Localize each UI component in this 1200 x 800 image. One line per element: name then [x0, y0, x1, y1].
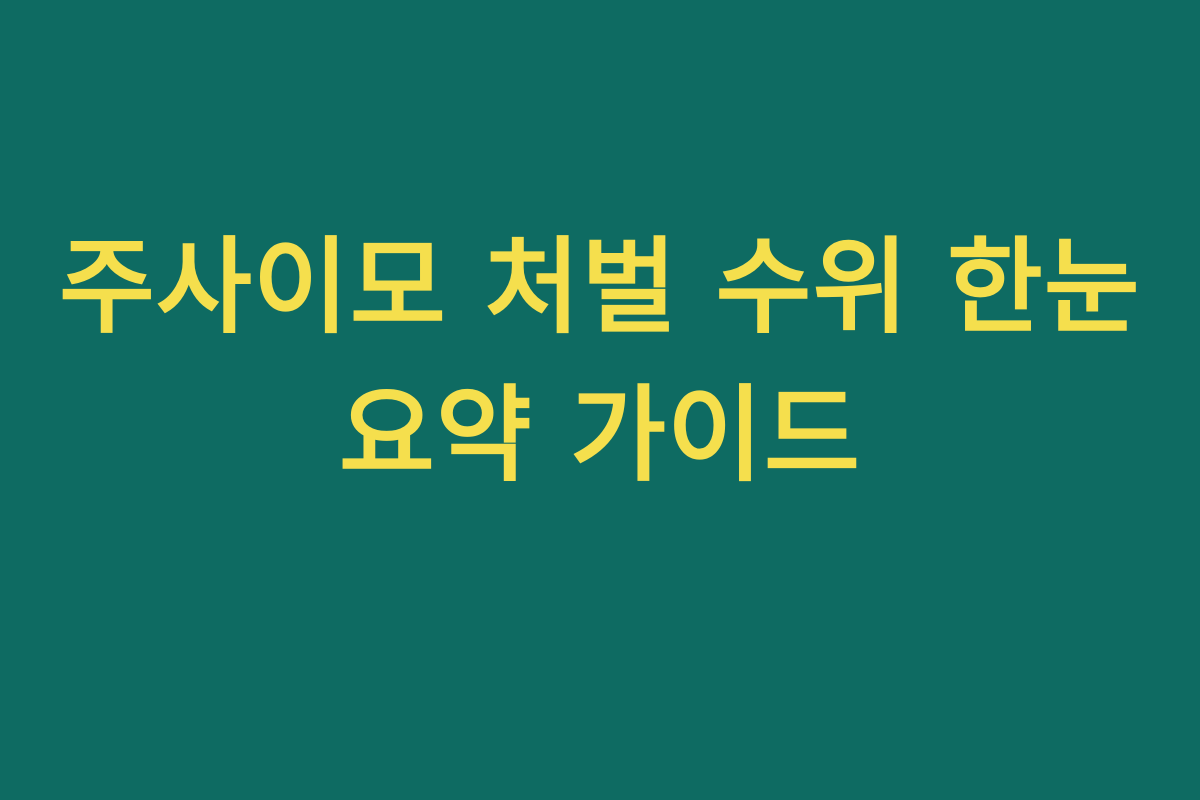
title-block: 주사이모 처벌 수위 한눈 요약 가이드	[50, 214, 1150, 509]
title-line-1: 주사이모 처벌 수위 한눈	[50, 214, 1150, 362]
title-line-2: 요약 가이드	[50, 362, 1150, 510]
banner-canvas: 주사이모 처벌 수위 한눈 요약 가이드	[0, 0, 1200, 800]
